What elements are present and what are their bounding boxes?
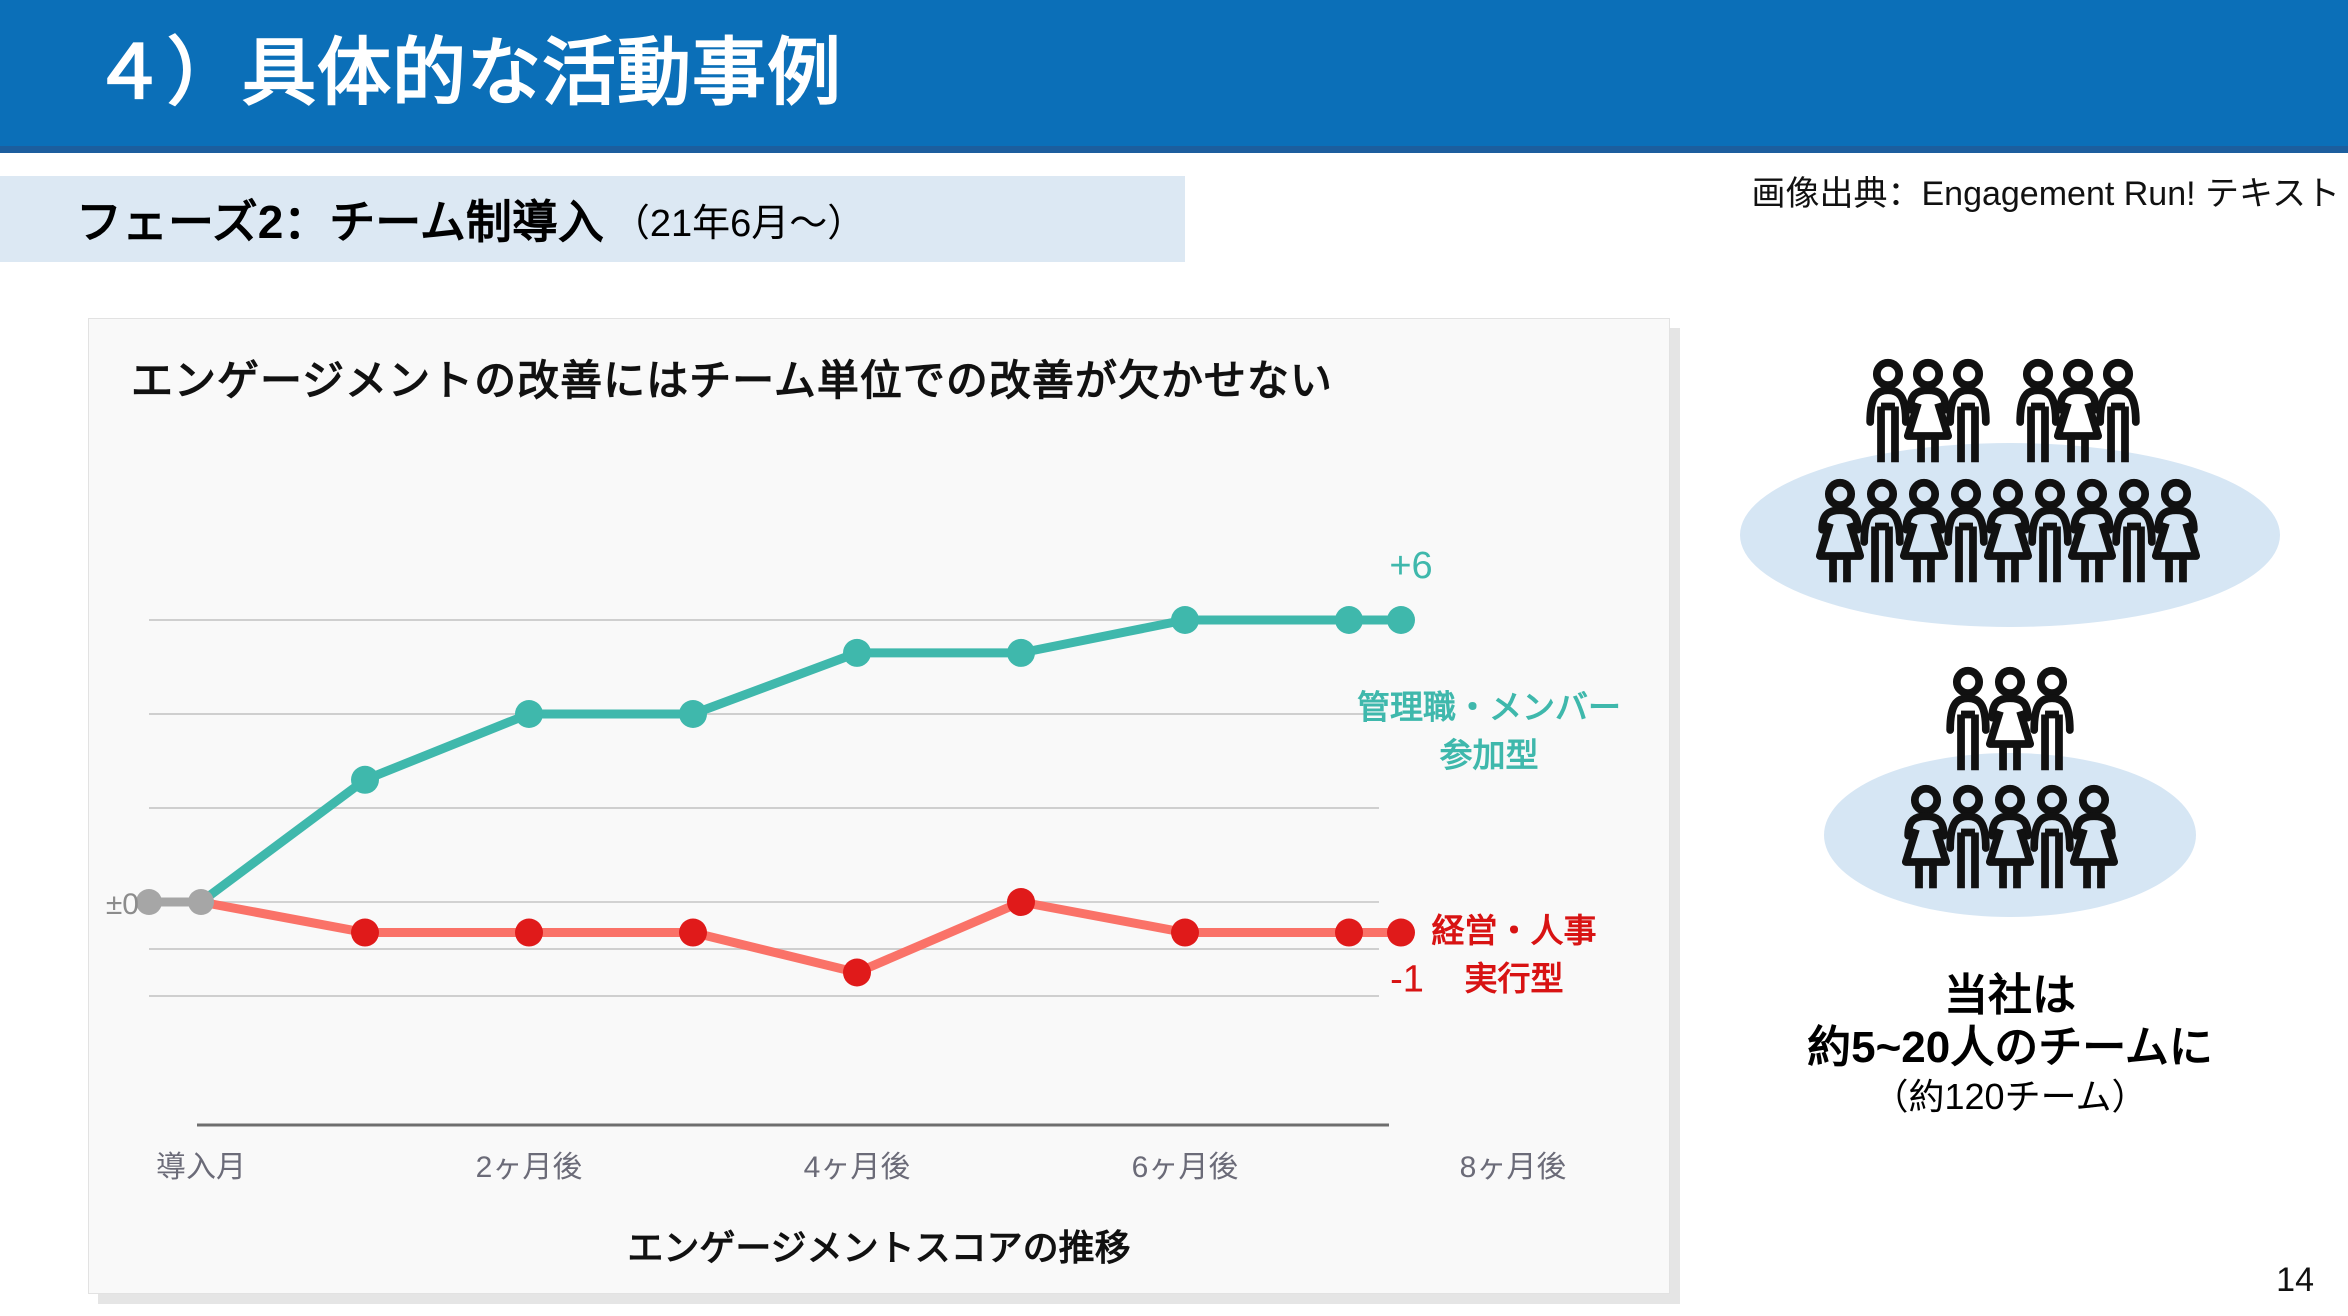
teal-series-legend-line-1: 管理職・メンバー: [1357, 689, 1621, 726]
x-axis-tick-label: 6ヶ月後: [1132, 1151, 1239, 1184]
header-underline: [0, 146, 2348, 153]
chart-series-layer: [149, 620, 1401, 973]
image-source-credit: 画像出典：Engagement Run! テキスト: [1751, 166, 2340, 215]
team-note-line-1: 当社は: [1690, 970, 2330, 1022]
right-column: 当社は 約5~20人のチームに （約120チーム）: [1690, 330, 2330, 1290]
red-series-end-value: -1: [1390, 958, 1424, 1000]
x-axis-tick-label: 2ヶ月後: [476, 1151, 583, 1184]
page-title: ４）具体的な活動事例: [92, 36, 842, 110]
people-backdrop-ellipse: [1824, 753, 2196, 917]
teal-series-end-value: +6: [1389, 545, 1432, 587]
chart-card: エンゲージメントの改善にはチーム単位での改善が欠かせない ±0導入月2ヶ月後4ヶ…: [88, 318, 1670, 1294]
x-axis-tick-label: 4ヶ月後: [804, 1151, 911, 1184]
y-axis-zero-label: ±0: [106, 888, 139, 921]
line-chart: ±0導入月2ヶ月後4ヶ月後6ヶ月後8ヶ月後+6管理職・メンバー参加型-1経営・人…: [89, 319, 1669, 1293]
phase-subtitle-chip: フェーズ2：チーム制導入 （21年6月～）: [0, 176, 1185, 262]
chart-caption: エンゲージメントスコアの推移: [89, 1219, 1669, 1271]
red-series-legend-line-2: 実行型: [1465, 960, 1564, 997]
people-group-small: [1690, 640, 2330, 930]
person-male-icon: [1870, 363, 1906, 463]
chart-svg: ±0導入月2ヶ月後4ヶ月後6ヶ月後8ヶ月後+6管理職・メンバー参加型-1経営・人…: [89, 319, 1669, 1293]
x-axis-tick-label: 8ヶ月後: [1460, 1151, 1567, 1184]
team-size-note: 当社は 約5~20人のチームに （約120チーム）: [1690, 970, 2330, 1119]
people-backdrop-ellipse: [1740, 443, 2280, 627]
phase-subtitle-period: （21年6月～）: [612, 192, 865, 247]
people-large-icon-set: [1690, 330, 2330, 640]
people-group-large: [1690, 330, 2330, 640]
team-note-line-3: （約120チーム）: [1690, 1074, 2330, 1119]
people-small-icon-set: [1690, 640, 2330, 930]
person-male-icon: [2100, 363, 2136, 463]
header-band: ４）具体的な活動事例: [0, 0, 2348, 146]
x-axis-tick-label: 導入月: [156, 1151, 246, 1184]
teal-series-legend-line-2: 参加型: [1440, 737, 1539, 774]
team-note-line-2: 約5~20人のチームに: [1690, 1022, 2330, 1074]
phase-subtitle-main: フェーズ2：チーム制導入: [76, 186, 604, 252]
red-series-legend-line-1: 経営・人事: [1432, 912, 1597, 949]
page-number: 14: [2276, 1261, 2314, 1300]
